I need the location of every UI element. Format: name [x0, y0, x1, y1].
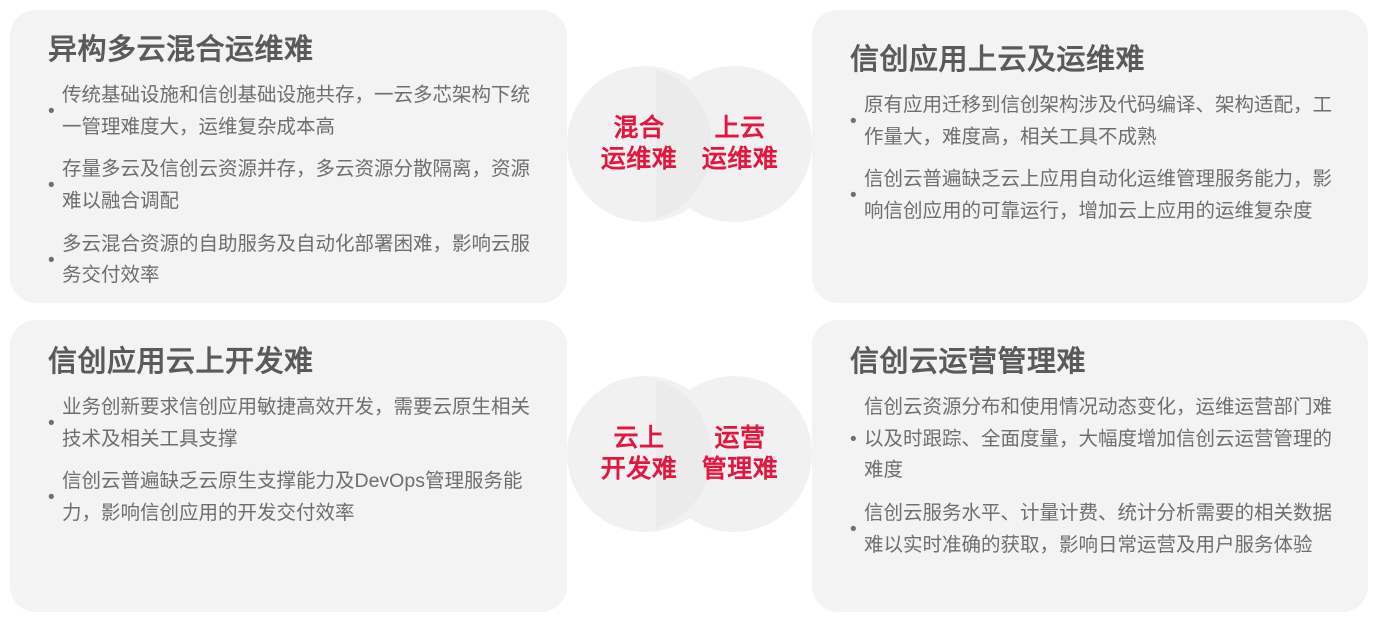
card-content: 异构多云混合运维难 传统基础设施和信创基础设施共存，一云多芯架构下统一管理难度大… [10, 32, 567, 292]
bullet-text: 信创云服务水平、计量计费、统计分析需要的相关数据难以实时准确的获取，影响日常运营… [864, 498, 1334, 561]
bullet-dot-icon [48, 488, 62, 507]
card-content: 信创应用云上开发难 业务创新要求信创应用敏捷高效开发，需要云原生相关技术及相关工… [10, 344, 567, 530]
card-content: 信创应用上云及运维难 原有应用迁移到信创架构涉及代码编译、架构适配，工作量大，难… [812, 42, 1368, 228]
venn-label-line1: 混合 [613, 113, 664, 145]
card-title: 异构多云混合运维难 [48, 32, 533, 68]
card-content: 信创云运营管理难 信创云资源分布和使用情况动态变化，运维运营部门难以及时跟踪、全… [812, 344, 1368, 561]
bullet-dot-icon [850, 520, 864, 539]
bullet-list: 业务创新要求信创应用敏捷高效开发，需要云原生相关技术及相关工具支撑 信创云普遍缺… [48, 392, 533, 529]
venn-diagram-top: 混合 运维难 上云 运维难 [567, 66, 812, 222]
list-item: 业务创新要求信创应用敏捷高效开发，需要云原生相关技术及相关工具支撑 [48, 392, 533, 455]
card-cloud-development: 信创应用云上开发难 业务创新要求信创应用敏捷高效开发，需要云原生相关技术及相关工… [10, 320, 567, 612]
venn-label-line2: 运维难 [702, 144, 779, 176]
venn-label-line1: 上云 [714, 113, 765, 145]
venn-label-cloud-migration-ops: 上云 运维难 [662, 66, 818, 222]
bullet-dot-icon [48, 414, 62, 433]
card-heterogeneous-multicloud-ops: 异构多云混合运维难 传统基础设施和信创基础设施共存，一云多芯架构下统一管理难度大… [10, 10, 567, 303]
list-item: 信创云资源分布和使用情况动态变化，运维运营部门难以及时跟踪、全面度量，大幅度增加… [850, 392, 1334, 487]
card-title: 信创云运营管理难 [850, 344, 1334, 380]
card-app-migration-ops: 信创应用上云及运维难 原有应用迁移到信创架构涉及代码编译、架构适配，工作量大，难… [812, 10, 1368, 303]
bullet-list: 传统基础设施和信创基础设施共存，一云多芯架构下统一管理难度大，运维复杂成本高 存… [48, 80, 533, 291]
list-item: 原有应用迁移到信创架构涉及代码编译、架构适配，工作量大，难度高，相关工具不成熟 [850, 90, 1334, 153]
card-title: 信创应用上云及运维难 [850, 42, 1334, 78]
bullet-text: 传统基础设施和信创基础设施共存，一云多芯架构下统一管理难度大，运维复杂成本高 [62, 80, 533, 143]
bullet-text: 存量多云及信创云资源并存，多云资源分散隔离，资源难以融合调配 [62, 154, 533, 217]
bullet-text: 多云混合资源的自助服务及自动化部署困难，影响云服务交付效率 [62, 229, 533, 292]
bullet-dot-icon [48, 251, 62, 270]
venn-label-line2: 管理难 [702, 454, 779, 486]
list-item: 存量多云及信创云资源并存，多云资源分散隔离，资源难以融合调配 [48, 154, 533, 217]
venn-label-line1: 云上 [613, 423, 664, 455]
card-cloud-operations-management: 信创云运营管理难 信创云资源分布和使用情况动态变化，运维运营部门难以及时跟踪、全… [812, 320, 1368, 612]
bullet-dot-icon [850, 430, 864, 449]
bullet-text: 原有应用迁移到信创架构涉及代码编译、架构适配，工作量大，难度高，相关工具不成熟 [864, 90, 1334, 153]
list-item: 信创云普遍缺乏云原生支撑能力及DevOps管理服务能力，影响信创应用的开发交付效… [48, 466, 533, 529]
venn-diagram-bottom: 云上 开发难 运营 管理难 [567, 376, 812, 532]
bullet-text: 信创云普遍缺乏云上应用自动化运维管理服务能力，影响信创应用的可靠运行，增加云上应… [864, 164, 1334, 227]
infographic-board: 异构多云混合运维难 传统基础设施和信创基础设施共存，一云多芯架构下统一管理难度大… [0, 0, 1378, 620]
list-item: 传统基础设施和信创基础设施共存，一云多芯架构下统一管理难度大，运维复杂成本高 [48, 80, 533, 143]
bullet-list: 原有应用迁移到信创架构涉及代码编译、架构适配，工作量大，难度高，相关工具不成熟 … [850, 90, 1334, 227]
bullet-dot-icon [850, 112, 864, 131]
card-title: 信创应用云上开发难 [48, 344, 533, 380]
venn-label-operations-management: 运营 管理难 [662, 376, 818, 532]
bullet-list: 信创云资源分布和使用情况动态变化，运维运营部门难以及时跟踪、全面度量，大幅度增加… [850, 392, 1334, 561]
bullet-dot-icon [48, 102, 62, 121]
venn-label-line1: 运营 [714, 423, 765, 455]
bullet-dot-icon [850, 186, 864, 205]
bullet-dot-icon [48, 176, 62, 195]
list-item: 信创云普遍缺乏云上应用自动化运维管理服务能力，影响信创应用的可靠运行，增加云上应… [850, 164, 1334, 227]
bullet-text: 信创云普遍缺乏云原生支撑能力及DevOps管理服务能力，影响信创应用的开发交付效… [62, 466, 533, 529]
list-item: 多云混合资源的自助服务及自动化部署困难，影响云服务交付效率 [48, 229, 533, 292]
bullet-text: 业务创新要求信创应用敏捷高效开发，需要云原生相关技术及相关工具支撑 [62, 392, 533, 455]
list-item: 信创云服务水平、计量计费、统计分析需要的相关数据难以实时准确的获取，影响日常运营… [850, 498, 1334, 561]
bullet-text: 信创云资源分布和使用情况动态变化，运维运营部门难以及时跟踪、全面度量，大幅度增加… [864, 392, 1334, 487]
